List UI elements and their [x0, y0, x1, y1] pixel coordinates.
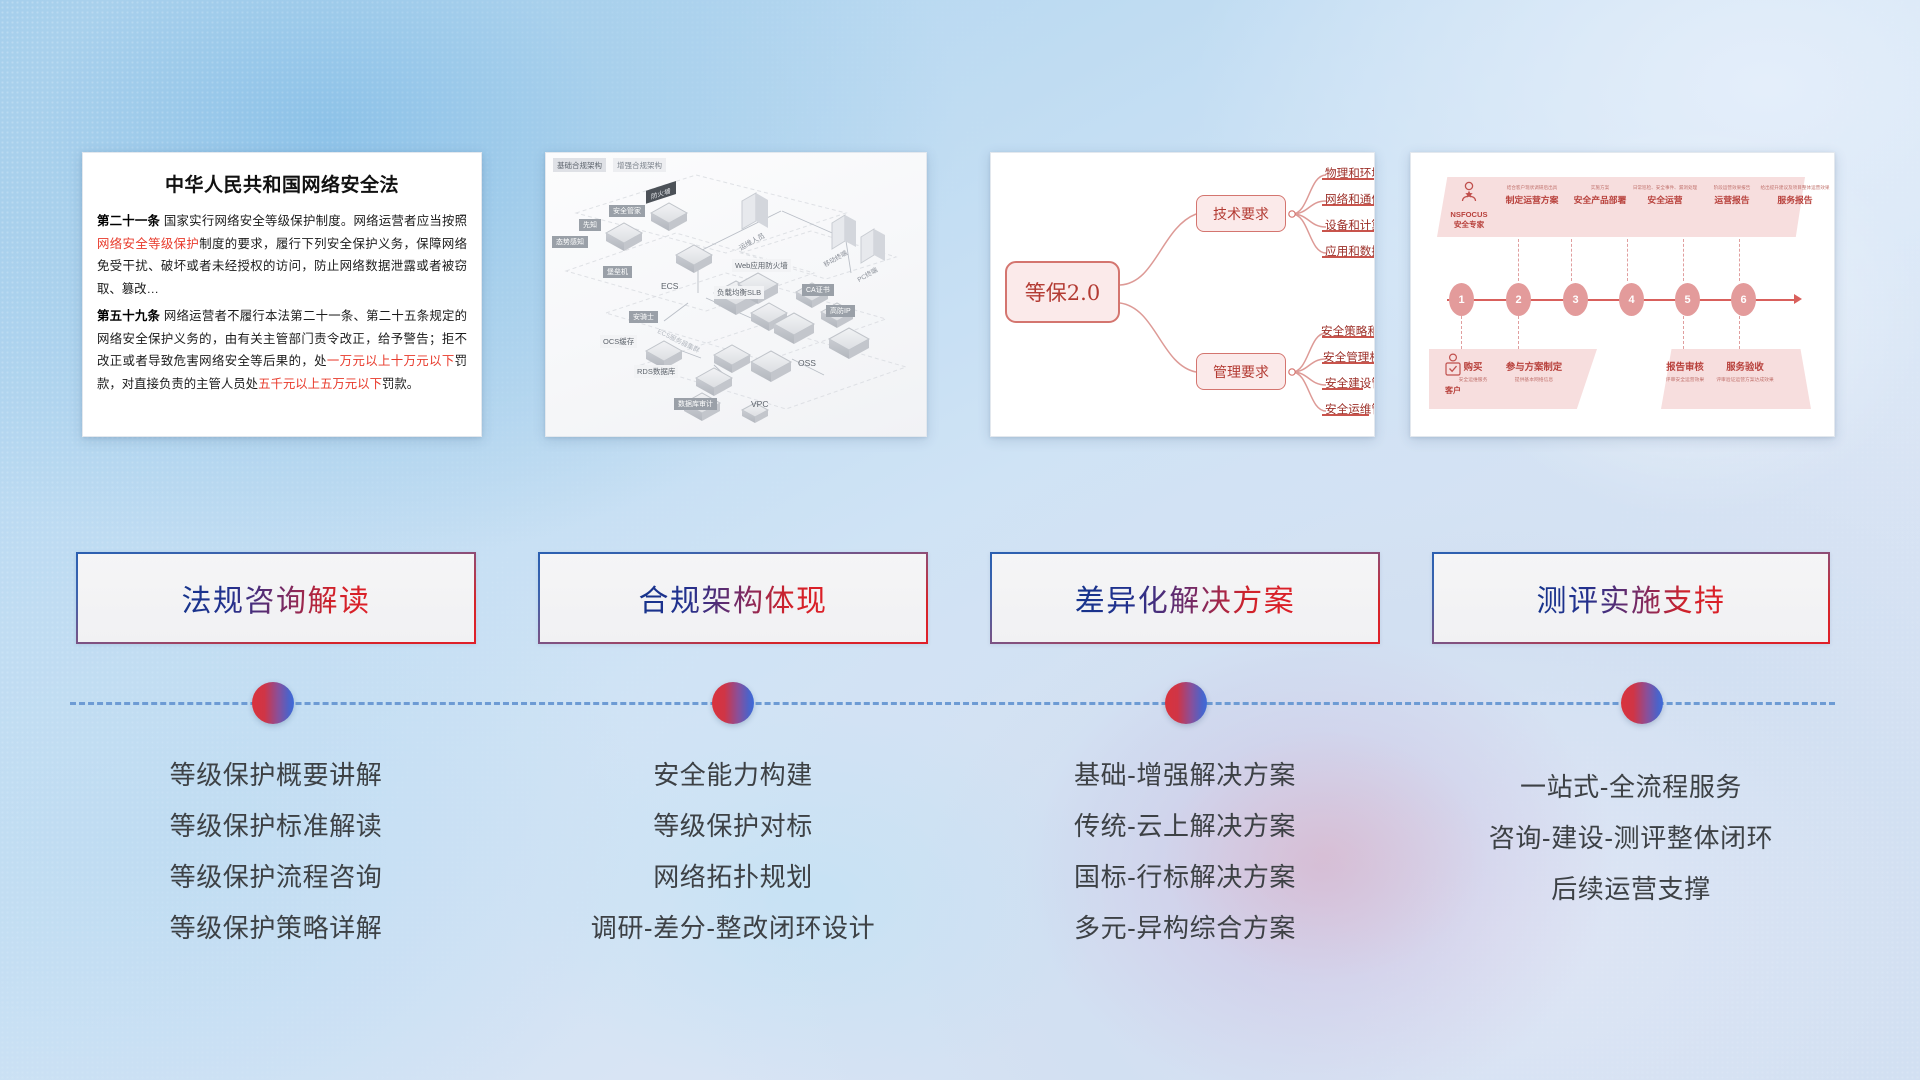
list-item: 等级保护流程咨询	[76, 852, 476, 903]
nsfocus-top-step-1-main: 制定运营方案	[1495, 193, 1569, 206]
nsfocus-dash-b1	[1461, 316, 1462, 354]
list-item: 国标-行标解决方案	[990, 852, 1380, 903]
nsfocus-dash-2	[1518, 239, 1519, 281]
law-article-59-highlight-1: 一万元以上十万元以下	[327, 354, 455, 368]
expert-avatar-icon	[1458, 181, 1480, 205]
law-paragraph-21: 第二十一条 国家实行网络安全等级保护制度。网络运营者应当按照网络安全等级保护制度…	[97, 210, 467, 300]
arch-label-ecs: ECS	[661, 281, 678, 291]
nsfocus-dash-3	[1571, 239, 1572, 281]
list-item: 传统-云上解决方案	[990, 801, 1380, 852]
arch-label-rds-database: RDS数据库	[634, 365, 678, 378]
nsfocus-bottom-step-4: 服务验收 评审验证运营方案达成效果	[1713, 359, 1777, 383]
mindmap: 等保2.0 技术要求 管理要求 物理和环境安全 网络和通信安全 设备和计算安全 …	[991, 153, 1374, 436]
arch-label-oss: OSS	[798, 358, 816, 368]
arch-label-anqishi: 安骑士	[629, 311, 658, 323]
nsfocus-timeline: NSFOCUS 安全专家 结合客户现状调研后出具 制定运营方案 实施方案 安全产…	[1411, 153, 1834, 436]
nsfocus-dash-6	[1739, 239, 1740, 281]
arch-label-situational-awareness: 态势感知	[552, 236, 588, 248]
nsfocus-top-step-5: 给出提升建议及项目整体运营效果 服务报告	[1743, 185, 1835, 206]
nsfocus-step-number-1: 1	[1449, 283, 1474, 316]
list-item: 等级保护对标	[538, 801, 928, 852]
mindmap-leaf-security-construction: 安全建设管理	[1325, 375, 1375, 393]
nsfocus-bottom-step-1-main: 购买	[1449, 359, 1497, 373]
nsfocus-top-step-5-sub: 给出提升建议及项目整体运营效果	[1743, 185, 1835, 191]
section-title-box-4[interactable]: 测评实施支持	[1432, 552, 1830, 644]
timeline-dashed-line	[70, 702, 1835, 705]
timeline-dot-3[interactable]	[1165, 682, 1207, 724]
list-item: 安全能力构建	[538, 750, 928, 801]
nsfocus-top-step-1: 结合客户现状调研后出具 制定运营方案	[1495, 185, 1569, 206]
nsfocus-step-number-6: 6	[1731, 283, 1756, 316]
nsfocus-dash-b5	[1683, 316, 1684, 354]
mindmap-leaf-security-org-personnel: 安全管理机构和人员	[1323, 349, 1375, 367]
card-mindmap-dengbao[interactable]: 等保2.0 技术要求 管理要求 物理和环境安全 网络和通信安全 设备和计算安全 …	[990, 152, 1375, 437]
nsfocus-expert-line1: NSFOCUS	[1443, 210, 1495, 220]
nsfocus-bottom-step-1: 购买 安全运维服务	[1449, 359, 1497, 383]
list-item: 基础-增强解决方案	[990, 750, 1380, 801]
arch-label-prophet: 先知	[579, 219, 601, 231]
timeline-dot-2[interactable]	[712, 682, 754, 724]
arch-label-anti-ddos-ip: 高防IP	[826, 305, 855, 317]
law-paragraph-59: 第五十九条 网络运营者不履行本法第二十一条、第二十五条规定的网络安全保护义务的，…	[97, 305, 467, 395]
arch-label-ocs-cache: OCS缓存	[600, 335, 637, 348]
architecture-diagram: 基础合规架构 增强合规架构	[546, 153, 926, 436]
list-item: 等级保护标准解读	[76, 801, 476, 852]
nsfocus-axis-arrow	[1794, 294, 1802, 304]
card-compliance-architecture[interactable]: 基础合规架构 增强合规架构	[545, 152, 927, 437]
nsfocus-bottom-step-3: 报告审核 评审安全运营效果	[1657, 359, 1713, 383]
mindmap-branch-technical[interactable]: 技术要求	[1196, 195, 1286, 232]
nsfocus-top-step-1-sub: 结合客户现状调研后出具	[1495, 185, 1569, 191]
list-item: 后续运营支撑	[1432, 864, 1830, 915]
section-items-3: 基础-增强解决方案 传统-云上解决方案 国标-行标解决方案 多元-异构综合方案	[990, 750, 1380, 954]
arch-label-slb: 负载均衡SLB	[714, 286, 764, 299]
nsfocus-expert-persona: NSFOCUS 安全专家	[1443, 181, 1495, 229]
nsfocus-customer-label: 客户	[1433, 385, 1473, 396]
mindmap-leaf-app-data-security: 应用和数据安全	[1325, 243, 1375, 261]
section-items-4: 一站式-全流程服务 咨询-建设-测评整体闭环 后续运营支撑	[1432, 762, 1830, 915]
nsfocus-bottom-step-4-main: 服务验收	[1713, 359, 1777, 373]
nsfocus-dash-5	[1683, 239, 1684, 281]
nsfocus-bottom-step-2-main: 参与方案制定	[1497, 359, 1571, 373]
nsfocus-step-number-5: 5	[1675, 283, 1700, 316]
section-title-label-1: 法规咨询解读	[182, 576, 371, 620]
nsfocus-dash-b6	[1739, 316, 1740, 354]
mindmap-leaf-security-operations: 安全运维管理	[1325, 401, 1375, 419]
list-item: 咨询-建设-测评整体闭环	[1432, 813, 1830, 864]
arch-label-security-steward: 安全管家	[609, 205, 645, 217]
nsfocus-expert-line2: 安全专家	[1443, 220, 1495, 230]
list-item: 一站式-全流程服务	[1432, 762, 1830, 813]
list-item: 网络拓扑规划	[538, 852, 928, 903]
arch-label-bastion-host: 堡垒机	[603, 266, 632, 278]
arch-label-vpc: VPC	[751, 399, 768, 409]
nsfocus-bottom-step-2: 参与方案制定 提供基本网络信息	[1497, 359, 1571, 383]
arch-label-db-audit: 数据库审计	[674, 398, 717, 410]
nsfocus-dash-4	[1627, 239, 1628, 281]
arch-label-waf: Web应用防火墙	[732, 259, 791, 272]
nsfocus-top-step-5-main: 服务报告	[1743, 193, 1835, 206]
nsfocus-dash-b2	[1518, 316, 1519, 354]
nsfocus-step-number-2: 2	[1506, 283, 1531, 316]
mindmap-leaf-network-comm-security: 网络和通信安全	[1325, 191, 1375, 209]
mindmap-leaf-device-compute-security: 设备和计算安全	[1325, 217, 1375, 235]
mindmap-leaf-security-policy-system: 安全策略和管理制度	[1321, 323, 1375, 341]
law-article-59-text-c: 罚款。	[382, 377, 419, 391]
list-item: 等级保护概要讲解	[76, 750, 476, 801]
nsfocus-bottom-step-1-sub: 安全运维服务	[1449, 376, 1497, 383]
section-title-label-2: 合规架构体现	[639, 576, 828, 620]
law-article-21-label: 第二十一条	[97, 214, 160, 228]
law-title: 中华人民共和国网络安全法	[83, 170, 481, 197]
timeline-dot-1[interactable]	[252, 682, 294, 724]
nsfocus-bottom-step-2-sub: 提供基本网络信息	[1497, 376, 1571, 383]
nsfocus-bottom-step-3-sub: 评审安全运营效果	[1657, 376, 1713, 383]
list-item: 等级保护策略详解	[76, 903, 476, 954]
card-nsfocus-service-timeline[interactable]: NSFOCUS 安全专家 结合客户现状调研后出具 制定运营方案 实施方案 安全产…	[1410, 152, 1835, 437]
law-article-21-text-a: 国家实行网络安全等级保护制度。网络运营者应当按照	[164, 214, 467, 228]
arch-label-ca-certificate: CA证书	[802, 284, 834, 296]
mindmap-root-node[interactable]: 等保2.0	[1005, 261, 1120, 323]
section-title-box-3[interactable]: 差异化解决方案	[990, 552, 1380, 644]
card-cybersecurity-law[interactable]: 中华人民共和国网络安全法 第二十一条 国家实行网络安全等级保护制度。网络运营者应…	[82, 152, 482, 437]
mindmap-leaf-physical-env-security: 物理和环境安全	[1325, 165, 1375, 183]
nsfocus-step-number-3: 3	[1563, 283, 1588, 316]
nsfocus-bottom-step-3-main: 报告审核	[1657, 359, 1713, 373]
list-item: 多元-异构综合方案	[990, 903, 1380, 954]
section-title-box-1[interactable]: 法规咨询解读	[76, 552, 476, 644]
section-items-1: 等级保护概要讲解 等级保护标准解读 等级保护流程咨询 等级保护策略详解	[76, 750, 476, 954]
nsfocus-step-number-4: 4	[1619, 283, 1644, 316]
section-title-label-4: 测评实施支持	[1537, 576, 1726, 620]
law-body: 第二十一条 国家实行网络安全等级保护制度。网络运营者应当按照网络安全等级保护制度…	[83, 210, 481, 395]
law-article-59-label: 第五十九条	[97, 309, 160, 323]
list-item: 调研-差分-整改闭环设计	[538, 903, 928, 954]
law-article-21-highlight: 网络安全等级保护	[97, 237, 199, 251]
timeline-dot-4[interactable]	[1621, 682, 1663, 724]
nsfocus-bottom-step-4-sub: 评审验证运营方案达成效果	[1713, 376, 1777, 383]
section-items-2: 安全能力构建 等级保护对标 网络拓扑规划 调研-差分-整改闭环设计	[538, 750, 928, 954]
law-article-59-highlight-2: 五千元以上五万元以下	[258, 377, 382, 391]
section-title-label-3: 差异化解决方案	[1075, 576, 1296, 620]
mindmap-branch-management[interactable]: 管理要求	[1196, 353, 1286, 390]
section-title-box-2[interactable]: 合规架构体现	[538, 552, 928, 644]
